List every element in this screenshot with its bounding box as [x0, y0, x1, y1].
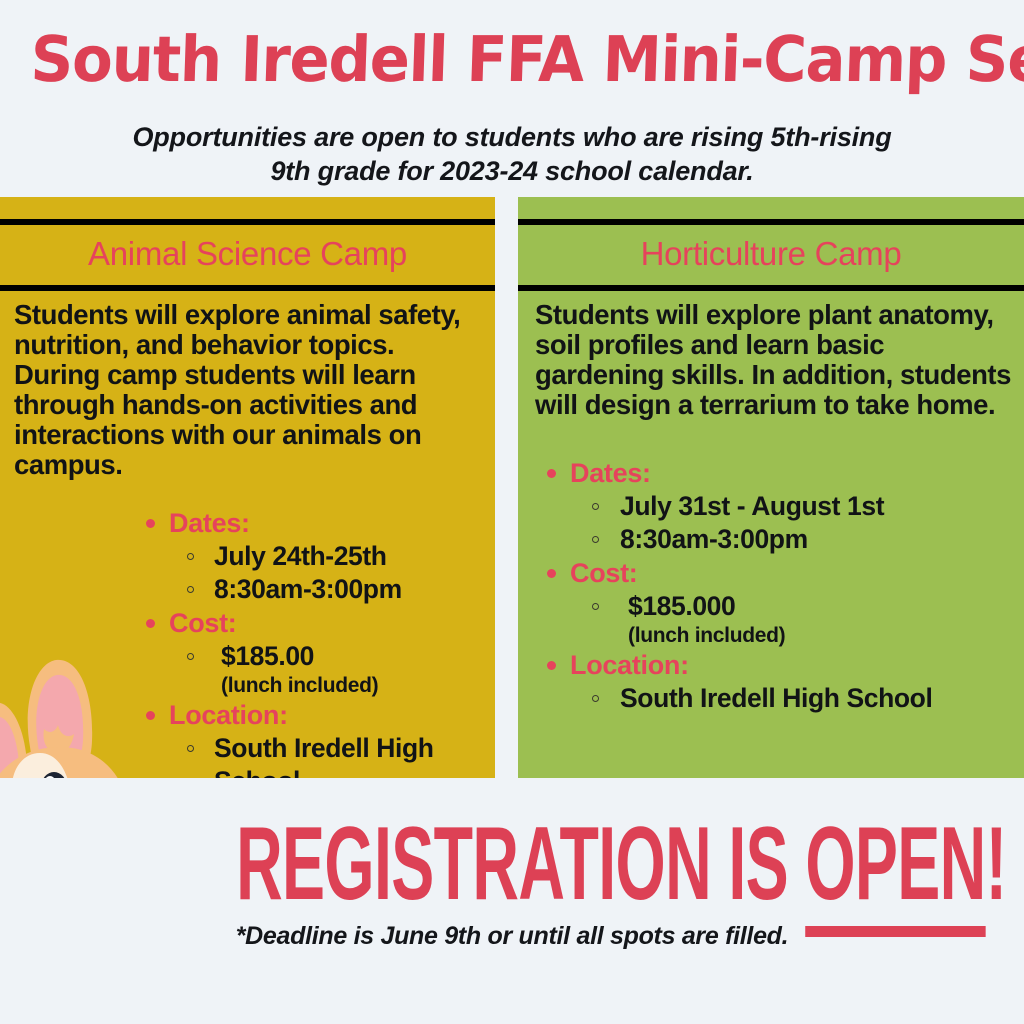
detail-sublist-cost: $185.000: [540, 590, 1024, 623]
detail-label-dates: Dates:: [139, 506, 495, 540]
deadline-note: *Deadline is June 9th or until all spots…: [0, 920, 1024, 952]
detail-list-animal-science: Dates: July 24th-25th 8:30am-3:00pm Cost…: [0, 506, 495, 778]
list-item: $185.000: [540, 590, 1024, 623]
detail-list-horticulture: Dates: July 31st - August 1st 8:30am-3:0…: [518, 456, 1024, 715]
detail-label-cost: Cost:: [139, 606, 495, 640]
list-item: South Iredell High School: [540, 682, 1024, 715]
detail-label-dates: Dates:: [540, 456, 1024, 490]
detail-group-dates: Dates: July 31st - August 1st 8:30am-3:0…: [540, 456, 1024, 556]
detail-sublist-location: South Iredell High School: [139, 732, 495, 778]
detail-sublist-dates: July 31st - August 1st 8:30am-3:00pm: [540, 490, 1024, 556]
registration-banner: REGISTRATION IS OPEN!: [0, 812, 1024, 916]
list-item: $185.00: [139, 640, 495, 673]
list-item: 8:30am-3:00pm: [139, 573, 495, 606]
registration-exclamation: !: [986, 806, 1007, 922]
detail-group-location: Location: South Iredell High School: [139, 698, 495, 778]
list-item: South Iredell High School: [139, 732, 495, 778]
poster-canvas: South Iredell FFA Mini-Camp Series Oppor…: [0, 0, 1024, 1024]
cost-note: (lunch included): [139, 673, 495, 698]
detail-group-cost: Cost: $185.00 (lunch included): [139, 606, 495, 698]
detail-label-location: Location:: [540, 648, 1024, 682]
detail-label-location: Location:: [139, 698, 495, 732]
registration-open-underlined: OPEN: [805, 806, 985, 937]
list-item: July 31st - August 1st: [540, 490, 1024, 523]
card-description-horticulture: Students will explore plant anatomy, soi…: [518, 291, 1024, 420]
detail-sublist-location: South Iredell High School: [540, 682, 1024, 715]
card-title-horticulture: Horticulture Camp: [518, 225, 1024, 285]
list-item: 8:30am-3:00pm: [540, 523, 1024, 556]
poster-subtitle: Opportunities are open to students who a…: [112, 120, 912, 188]
cost-note: (lunch included): [540, 623, 1024, 648]
card-top-spacer: [0, 197, 495, 219]
detail-sublist-cost: $185.00: [139, 640, 495, 673]
detail-group-location: Location: South Iredell High School: [540, 648, 1024, 715]
detail-group-cost: Cost: $185.000 (lunch included): [540, 556, 1024, 648]
registration-text-pre: REGISTRATION IS: [236, 806, 805, 922]
card-top-spacer: [518, 197, 1024, 219]
card-description-animal-science: Students will explore animal safety, nut…: [0, 291, 495, 480]
registration-headline: REGISTRATION IS OPEN!: [236, 812, 1006, 916]
card-title-animal-science: Animal Science Camp: [0, 225, 495, 285]
detail-sublist-dates: July 24th-25th 8:30am-3:00pm: [139, 540, 495, 606]
camp-card-animal-science: Animal Science Camp Students will explor…: [0, 197, 495, 778]
page-title: South Iredell FFA Mini-Camp Series: [30, 24, 995, 96]
camp-card-horticulture: Horticulture Camp Students will explore …: [518, 197, 1024, 778]
detail-group-dates: Dates: July 24th-25th 8:30am-3:00pm: [139, 506, 495, 606]
list-item: July 24th-25th: [139, 540, 495, 573]
detail-label-cost: Cost:: [540, 556, 1024, 590]
